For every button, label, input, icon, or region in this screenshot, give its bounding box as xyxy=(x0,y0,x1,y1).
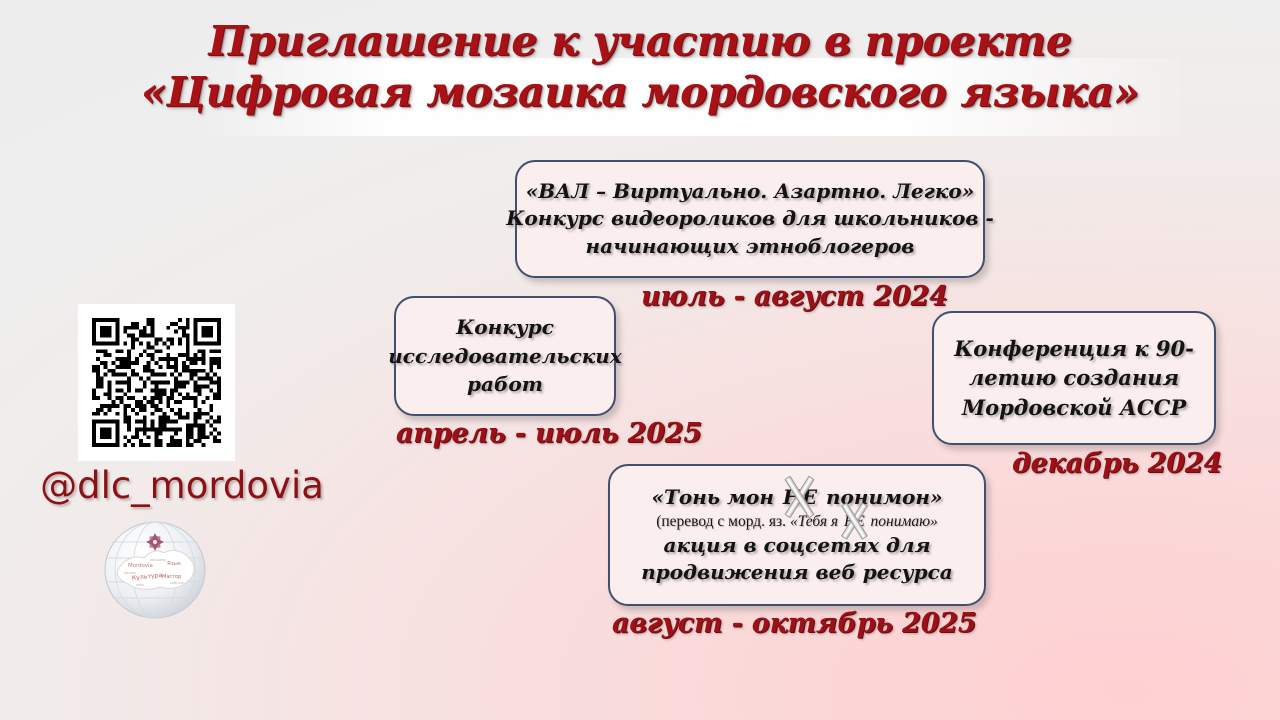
event-line: продвижения веб ресурса xyxy=(641,559,953,586)
event-card-vall[interactable]: «ВАЛ – Виртуально. Азартно. Легко» Конку… xyxy=(515,160,985,278)
headline-before: «Тонь мон xyxy=(652,485,781,509)
translation-quote-before: «Тебя я xyxy=(790,513,842,530)
event-line: начинающих этноблогеров xyxy=(586,233,915,261)
event-line: исследовательских xyxy=(388,342,622,370)
svg-text:эрзянь: эрзянь xyxy=(124,571,136,575)
event-line: Конкурс xyxy=(456,313,554,341)
event-line: Конференция к 90- xyxy=(954,334,1194,363)
svg-text:Mordovia: Mordovia xyxy=(128,563,153,569)
event-date-action: август - октябрь 2025 xyxy=(612,608,976,639)
struck-word: НЕ xyxy=(842,511,867,532)
event-card-research[interactable]: Конкурс исследовательских работ xyxy=(394,296,616,416)
qr-code-card[interactable] xyxy=(78,304,235,461)
translation-quote-after: понимаю» xyxy=(867,513,938,530)
globe-logo: Mordovia Язык Культура Мастор эрзянь мок… xyxy=(100,518,212,622)
page-title: Приглашение к участию в проекте «Цифрова… xyxy=(0,16,1280,118)
svg-text:Мастор: Мастор xyxy=(162,574,181,580)
svg-text:кель: кель xyxy=(136,583,144,587)
qr-code-icon xyxy=(92,318,221,447)
struck-text: НЕ xyxy=(783,485,817,509)
translation-before: (перевод с морд. яз. xyxy=(656,513,790,530)
event-date-vall: июль - август 2024 xyxy=(641,281,948,312)
event-card-conference[interactable]: Конференция к 90- летию создания Мордовс… xyxy=(932,311,1216,445)
svg-text:вайгель: вайгель xyxy=(170,581,184,585)
struck-text: НЕ xyxy=(844,513,865,530)
event-card-action[interactable]: «Тонь мон НЕ понимон» (перевод с морд. я… xyxy=(608,464,986,606)
event-line: акция в соцсетях для xyxy=(664,532,931,559)
struck-word: НЕ xyxy=(781,484,819,511)
svg-text:мокшень: мокшень xyxy=(150,558,166,562)
event-line: Мордовской АССР xyxy=(962,393,1186,422)
event-line: «ВАЛ – Виртуально. Азартно. Легко» xyxy=(526,178,975,206)
event-line: работ xyxy=(467,370,543,398)
event-line: Конкурс видеороликов для школьников - xyxy=(506,205,994,233)
event-line: летию создания xyxy=(969,363,1179,392)
slide-canvas: Приглашение к участию в проекте «Цифрова… xyxy=(0,0,1280,720)
social-handle[interactable]: @dlc_mordovia xyxy=(22,464,342,507)
event-date-research: апрель - июль 2025 xyxy=(396,418,702,449)
headline-after: понимон» xyxy=(819,485,942,509)
event-translation: (перевод с морд. яз. «Тебя я НЕ понимаю» xyxy=(656,511,938,532)
event-date-conference: декабрь 2024 xyxy=(1012,448,1222,479)
event-headline: «Тонь мон НЕ понимон» xyxy=(652,484,943,511)
svg-text:Язык: Язык xyxy=(167,561,182,567)
